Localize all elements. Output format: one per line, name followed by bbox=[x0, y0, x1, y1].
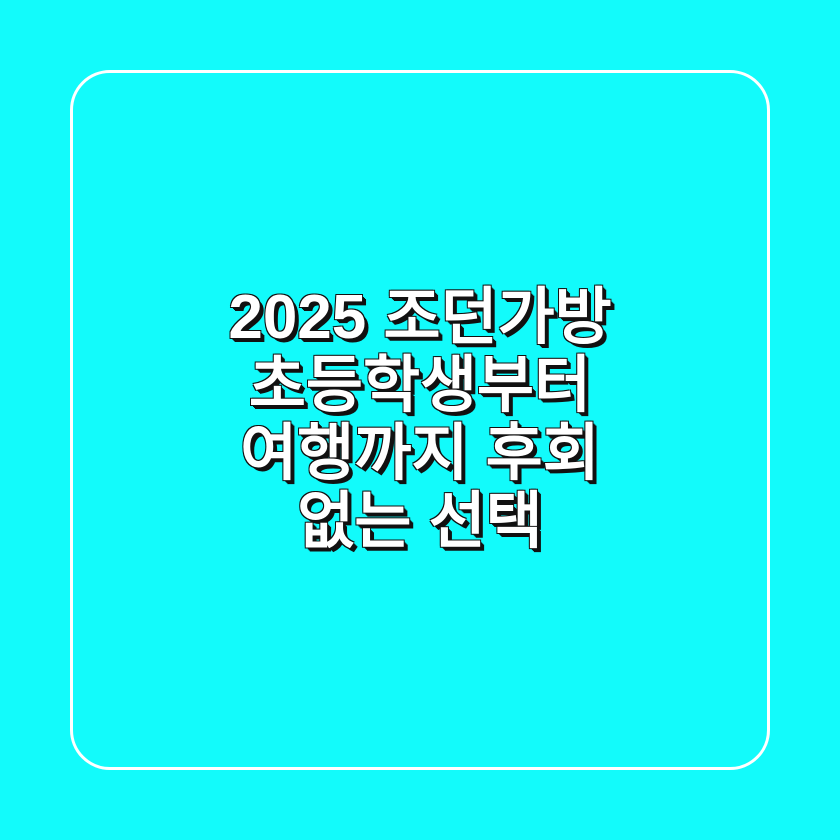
headline-container: 2025 조던가방 초등학생부터 여행까지 후회 없는 선택 bbox=[0, 0, 840, 840]
page-title: 2025 조던가방 초등학생부터 여행까지 후회 없는 선택 bbox=[175, 284, 665, 556]
poster-canvas: 2025 조던가방 초등학생부터 여행까지 후회 없는 선택 bbox=[0, 0, 840, 840]
